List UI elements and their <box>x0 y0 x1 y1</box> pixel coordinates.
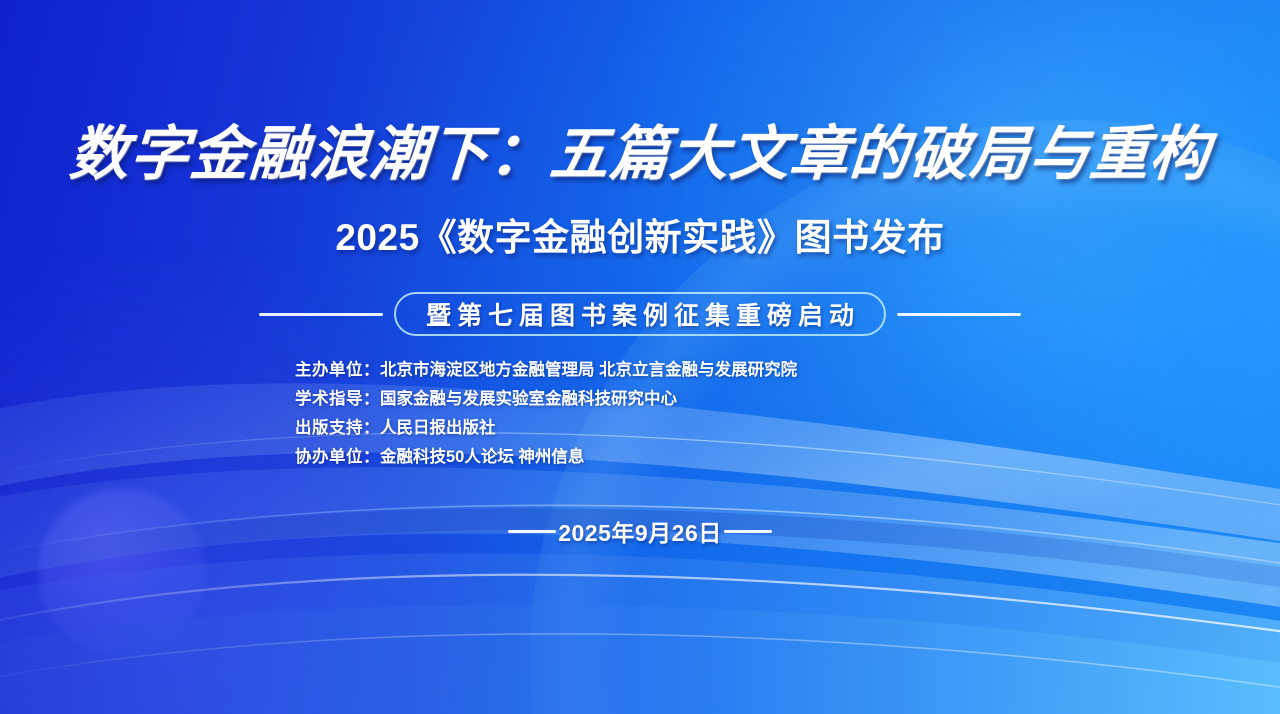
page-title: 数字金融浪潮下：五篇大文章的破局与重构 <box>0 106 1280 191</box>
organizer-row: 出版支持：人民日报出版社 <box>295 414 985 443</box>
rule-left <box>259 313 383 316</box>
organizer-label: 主办单位： <box>295 361 380 379</box>
organizer-value: 金融科技50人论坛 神州信息 <box>380 448 584 466</box>
organizer-block: 主办单位：北京市海淀区地方金融管理局 北京立言金融与发展研究院 学术指导：国家金… <box>295 356 985 472</box>
banner-label: 暨第七届图书案例征集重磅启动 <box>420 296 860 332</box>
date-dash-right <box>724 530 772 533</box>
organizer-row: 主办单位：北京市海淀区地方金融管理局 北京立言金融与发展研究院 <box>295 356 985 385</box>
date-row: 2025年9月26日 <box>0 514 1280 548</box>
organizer-value: 人民日报出版社 <box>380 419 496 437</box>
organizer-value: 北京市海淀区地方金融管理局 北京立言金融与发展研究院 <box>380 361 797 379</box>
poster-content: 数字金融浪潮下：五篇大文章的破局与重构 2025《数字金融创新实践》图书发布 暨… <box>0 0 1280 714</box>
subtitle: 2025《数字金融创新实践》图书发布 <box>0 207 1280 261</box>
organizer-row: 协办单位：金融科技50人论坛 神州信息 <box>295 443 985 472</box>
event-date: 2025年9月26日 <box>558 514 722 548</box>
poster-canvas: 数字金融浪潮下：五篇大文章的破局与重构 2025《数字金融创新实践》图书发布 暨… <box>0 0 1280 714</box>
organizer-list: 主办单位：北京市海淀区地方金融管理局 北京立言金融与发展研究院 学术指导：国家金… <box>0 356 1280 472</box>
date-dash-left <box>508 530 556 533</box>
rule-right <box>897 313 1021 316</box>
banner-pill: 暨第七届图书案例征集重磅启动 <box>394 292 886 336</box>
organizer-label: 学术指导： <box>295 390 380 408</box>
organizer-label: 协办单位： <box>295 448 380 466</box>
organizer-label: 出版支持： <box>295 419 380 437</box>
organizer-row: 学术指导：国家金融与发展实验室金融科技研究中心 <box>295 385 985 414</box>
banner-row: 暨第七届图书案例征集重磅启动 <box>0 292 1280 336</box>
organizer-value: 国家金融与发展实验室金融科技研究中心 <box>380 390 677 408</box>
